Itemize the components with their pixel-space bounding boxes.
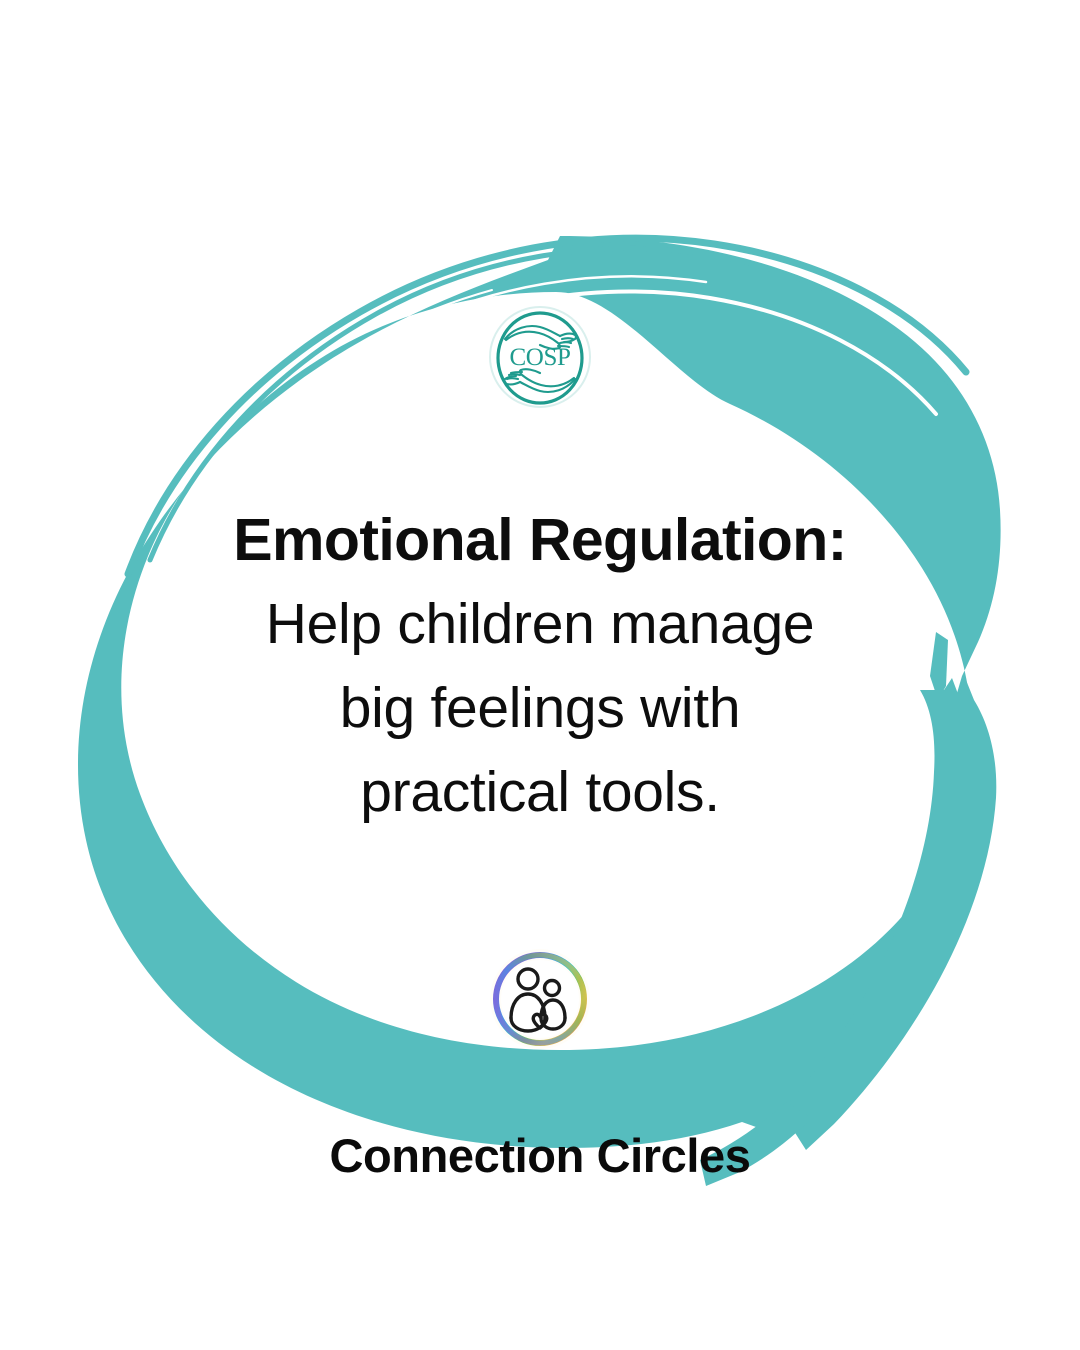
body-line-3: practical tools. [140,750,940,834]
body-text: Help children manage big feelings with p… [140,582,940,834]
cosp-wordmark: COSP [510,344,571,371]
brand-name: Connection Circles [0,1128,1080,1183]
body-line-2: big feelings with [140,666,940,750]
brush-texture-streak-3 [232,290,492,444]
headline: Emotional Regulation: [140,498,940,582]
cosp-logo: COSP [484,303,596,411]
cosp-lower-hand-icon [504,369,575,392]
connection-circles-logo [489,948,591,1050]
message-block: Emotional Regulation: Help children mana… [140,498,940,834]
poster-canvas: COSP [0,0,1080,1350]
body-line-1: Help children manage [140,582,940,666]
